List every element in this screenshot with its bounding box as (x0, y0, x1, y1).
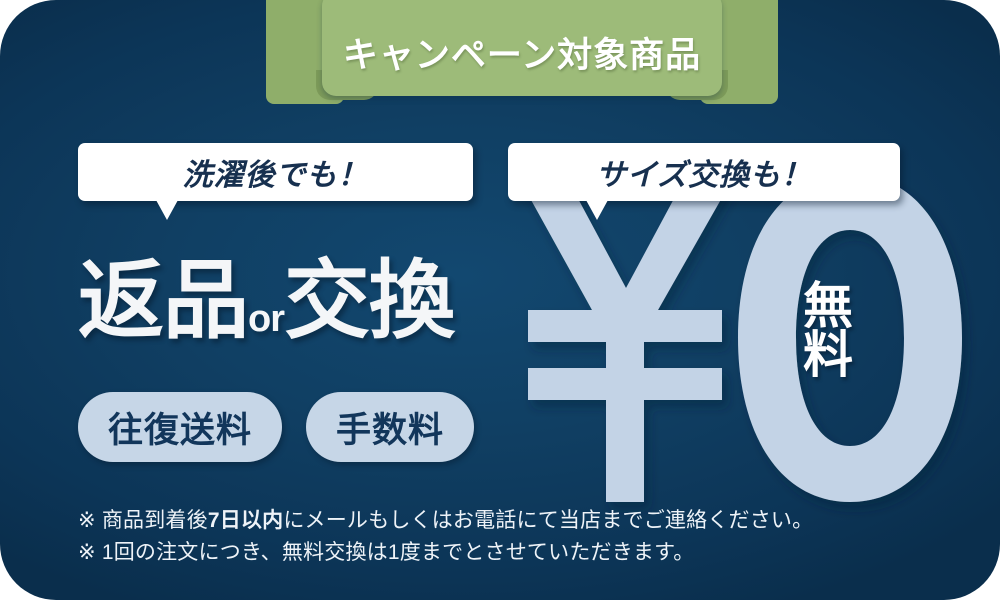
footnote-2-prefix: ※ 1回の注文につき、無料交換は1度までとさせていただきます。 (78, 541, 694, 564)
headline: 返品 or 交換 (78, 258, 454, 344)
pill-round-trip-shipping-label: 往復送料 (108, 402, 252, 453)
speech-bubble-size-exchange: サイズ交換も！ (508, 143, 900, 201)
footnote-line-2: ※ 1回の注文につき、無料交換は1度までとさせていただきます。 (78, 537, 948, 569)
free-overlay-line2: 料 (792, 331, 864, 380)
footnote-1-emphasis: 7日以内 (208, 509, 283, 532)
banner-card: 無 料 キャンペーン対象商品 洗濯後でも！ サイズ交換も！ 返品 or 交換 (0, 0, 1000, 600)
free-overlay-line1: 無 (792, 282, 864, 331)
pill-round-trip-shipping: 往復送料 (78, 392, 282, 462)
speech-bubble-size-exchange-label: サイズ交換も！ (596, 150, 812, 194)
footnotes: ※ 商品到着後7日以内にメールもしくはお電話にて当店までご連絡ください。 ※ 1… (78, 505, 948, 569)
headline-exchange: 交換 (284, 258, 454, 344)
free-overlay-text: 無 料 (792, 282, 864, 379)
ribbon-label: キャンペーン対象商品 (322, 0, 722, 96)
promo-banner: 無 料 キャンペーン対象商品 洗濯後でも！ サイズ交換も！ 返品 or 交換 (0, 0, 1000, 600)
footnote-1-suffix: にメールもしくはお電話にて当店までご連絡ください。 (283, 509, 813, 532)
footnote-1-prefix: ※ 商品到着後 (78, 509, 208, 532)
headline-return: 返品 (78, 258, 248, 344)
headline-or: or (248, 300, 284, 344)
footnote-line-1: ※ 商品到着後7日以内にメールもしくはお電話にて当店までご連絡ください。 (78, 505, 948, 537)
pill-handling-fee-label: 手数料 (336, 402, 444, 453)
speech-bubble-washing: 洗濯後でも！ (78, 143, 473, 201)
benefit-pills: 往復送料 手数料 (78, 392, 474, 462)
pill-handling-fee: 手数料 (306, 392, 474, 462)
campaign-ribbon: キャンペーン対象商品 (322, 0, 722, 110)
price-graphic (520, 172, 990, 532)
speech-bubble-washing-label: 洗濯後でも！ (183, 150, 369, 194)
